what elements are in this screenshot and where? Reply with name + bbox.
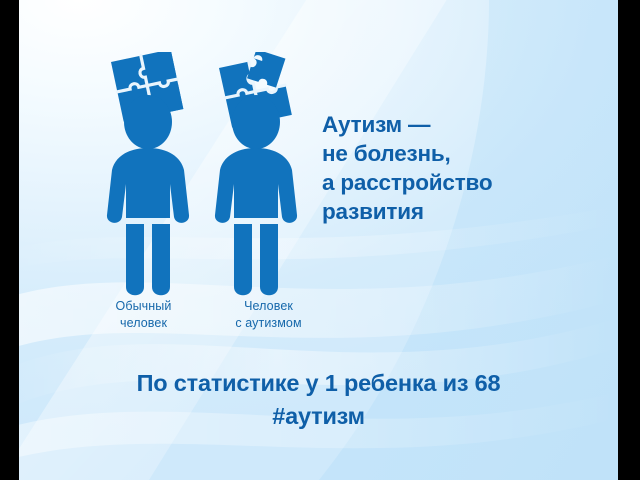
headline-line-1: Аутизм —: [322, 110, 492, 139]
video-frame: Обычный человек Человек с аутизмом Аутиз…: [0, 0, 640, 480]
head: [124, 95, 172, 149]
autism-awareness-poster: Обычный человек Человек с аутизмом Аутиз…: [19, 0, 618, 480]
label-typical-person-line1: Обычный: [116, 299, 172, 313]
person-with-autism-figure: [215, 52, 297, 295]
left-leg: [234, 224, 252, 295]
headline-line-2: не болезнь,: [322, 139, 492, 168]
headline: Аутизм — не болезнь, а расстройство разв…: [322, 110, 492, 226]
label-person-with-autism: Человек с аутизмом: [206, 298, 331, 332]
label-person-with-autism-line1: Человек: [244, 299, 293, 313]
statistic-line: По статистике у 1 ребенка из 68: [19, 367, 618, 400]
label-person-with-autism-line2: с аутизмом: [206, 315, 331, 332]
headline-line-4: развития: [322, 197, 492, 226]
head: [232, 95, 280, 149]
statistic-caption: По статистике у 1 ребенка из 68 #аутизм: [19, 367, 618, 433]
letterbox-right: [618, 0, 640, 480]
headline-line-3: а расстройство: [322, 168, 492, 197]
torso-and-arms: [107, 148, 189, 223]
right-leg: [260, 224, 278, 295]
figure-labels: Обычный человек Человек с аутизмом: [81, 298, 331, 332]
typical-person-figure: [107, 52, 189, 295]
torso-and-arms: [215, 148, 297, 223]
label-typical-person-line2: человек: [81, 315, 206, 332]
figures-illustration: [89, 52, 319, 302]
hashtag-line: #аутизм: [19, 400, 618, 433]
right-leg: [152, 224, 170, 295]
two-people-pictogram: [89, 52, 319, 302]
letterbox-left: [0, 0, 19, 480]
label-typical-person: Обычный человек: [81, 298, 206, 332]
left-leg: [126, 224, 144, 295]
